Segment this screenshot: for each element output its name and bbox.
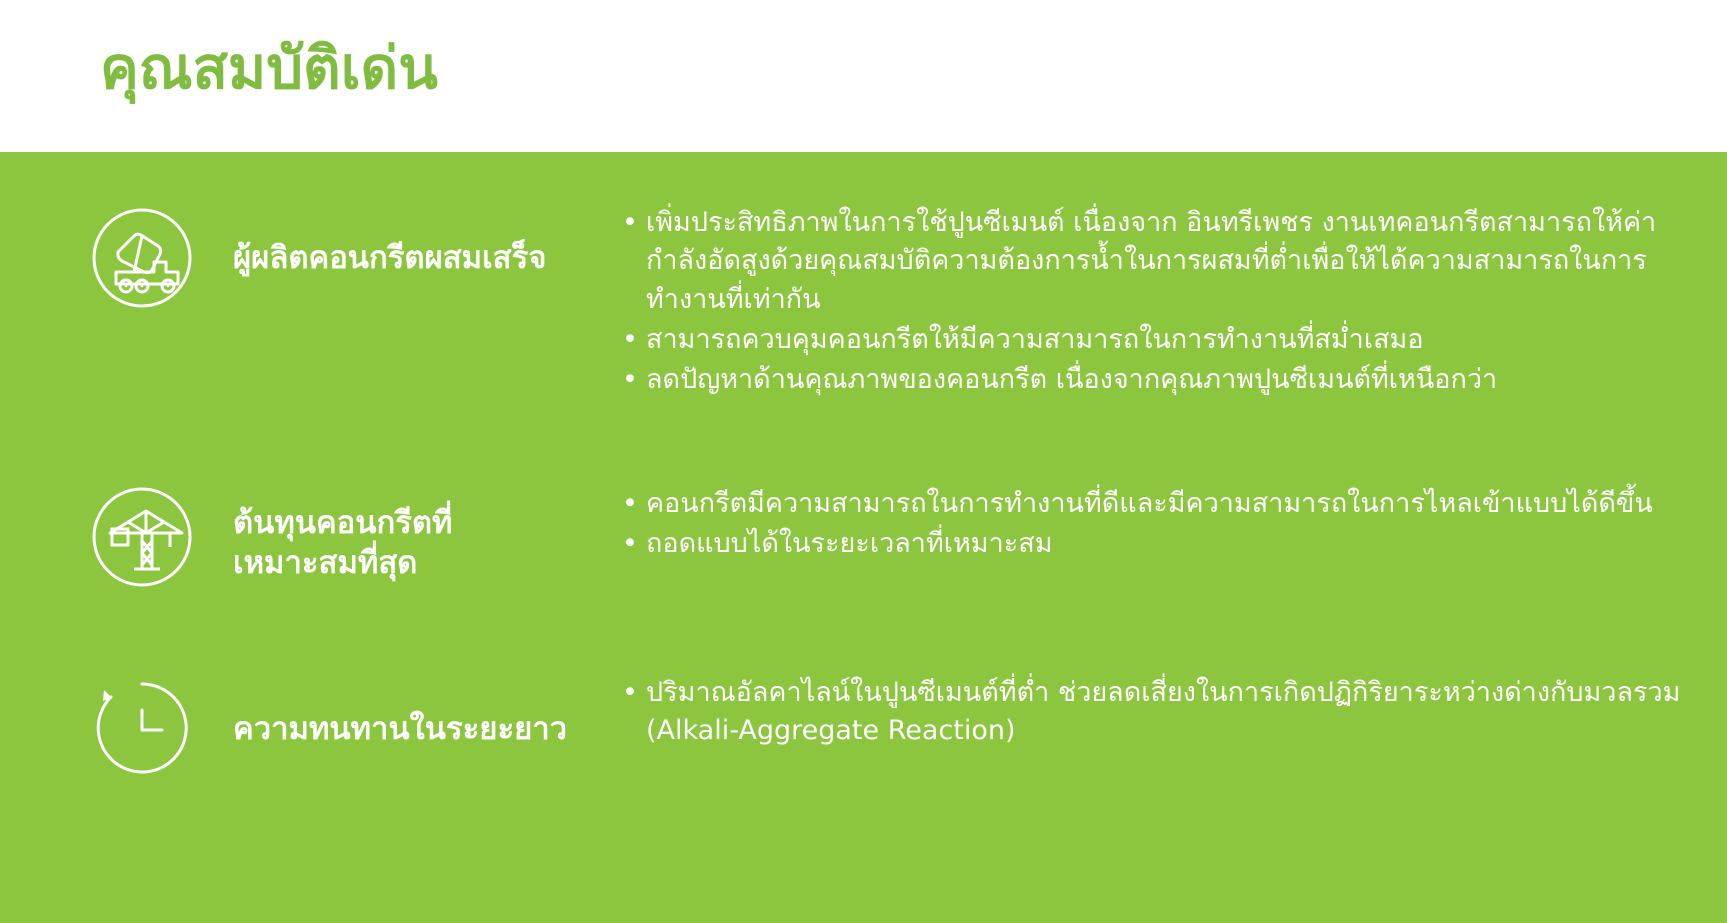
list-item: • ปริมาณอัลคาไลน์ในปูนซีเมนต์ที่ต่ำ ช่วย… <box>620 674 1690 751</box>
feature-bullet-list: • คอนกรีตมีความสามารถในการทำงานที่ดีและม… <box>620 485 1690 566</box>
bullet-text: ลดปัญหาด้านคุณภาพของคอนกรีต เนื่องจากคุณ… <box>646 361 1690 399</box>
bullet-text: ปริมาณอัลคาไลน์ในปูนซีเมนต์ที่ต่ำ ช่วยลด… <box>646 674 1690 751</box>
bullet-marker: • <box>622 321 638 359</box>
bullet-marker: • <box>622 674 638 712</box>
feature-rows: ผู้ผลิตคอนกรีตผสมเสร็จ • เพิ่มประสิทธิภา… <box>0 152 1727 923</box>
feature-bullet-list: • เพิ่มประสิทธิภาพในการใช้ปูนซีเมนต์ เนื… <box>620 204 1690 402</box>
page-title: คุณสมบัติเด่น <box>100 38 438 99</box>
bullet-text: ถอดแบบได้ในระยะเวลาที่เหมาะสม <box>646 525 1690 563</box>
bullet-text: คอนกรีตมีความสามารถในการทำงานที่ดีและมีค… <box>646 485 1690 523</box>
list-item: • ลดปัญหาด้านคุณภาพของคอนกรีต เนื่องจากค… <box>620 361 1690 399</box>
feature-bullet-list: • ปริมาณอัลคาไลน์ในปูนซีเมนต์ที่ต่ำ ช่วย… <box>620 674 1690 753</box>
bullet-marker: • <box>622 525 638 563</box>
feature-heading: ความทนทานในระยะยาว <box>233 710 593 750</box>
header-band: คุณสมบัติเด่น <box>0 0 1727 152</box>
list-item: • สามารถควบคุมคอนกรีตให้มีความสามารถในกา… <box>620 321 1690 359</box>
clock-arrow-icon <box>90 676 194 780</box>
concrete-mixer-truck-icon <box>90 206 194 310</box>
bullet-marker: • <box>622 485 638 523</box>
features-panel: ผู้ผลิตคอนกรีตผสมเสร็จ • เพิ่มประสิทธิภา… <box>0 152 1727 923</box>
feature-heading: ต้นทุนคอนกรีตที่ เหมาะสมที่สุด <box>233 504 593 583</box>
bullet-marker: • <box>622 204 638 242</box>
bullet-text: สามารถควบคุมคอนกรีตให้มีความสามารถในการท… <box>646 321 1690 359</box>
bullet-text: เพิ่มประสิทธิภาพในการใช้ปูนซีเมนต์ เนื่อ… <box>646 204 1690 319</box>
list-item: • คอนกรีตมีความสามารถในการทำงานที่ดีและม… <box>620 485 1690 523</box>
list-item: • ถอดแบบได้ในระยะเวลาที่เหมาะสม <box>620 525 1690 563</box>
list-item: • เพิ่มประสิทธิภาพในการใช้ปูนซีเมนต์ เนื… <box>620 204 1690 319</box>
bullet-marker: • <box>622 361 638 399</box>
slide-root: คุณสมบัติเด่น <box>0 0 1727 923</box>
feature-heading: ผู้ผลิตคอนกรีตผสมเสร็จ <box>233 239 593 279</box>
tower-crane-icon <box>90 485 194 589</box>
